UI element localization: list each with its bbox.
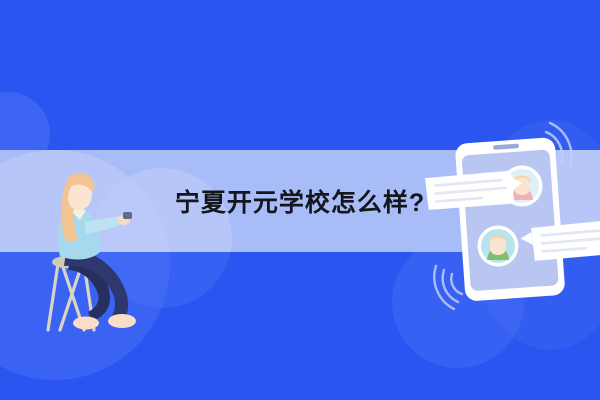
shoe-back: [73, 317, 99, 330]
shoe-front: [108, 314, 136, 328]
page-title: 宁夏开元学校怎么样?: [0, 150, 600, 252]
signal-arcs-bottom-icon: [434, 266, 462, 309]
page-title-text: 宁夏开元学校怎么样?: [175, 183, 425, 219]
banner-image: 宁夏开元学校怎么样?: [0, 0, 600, 400]
